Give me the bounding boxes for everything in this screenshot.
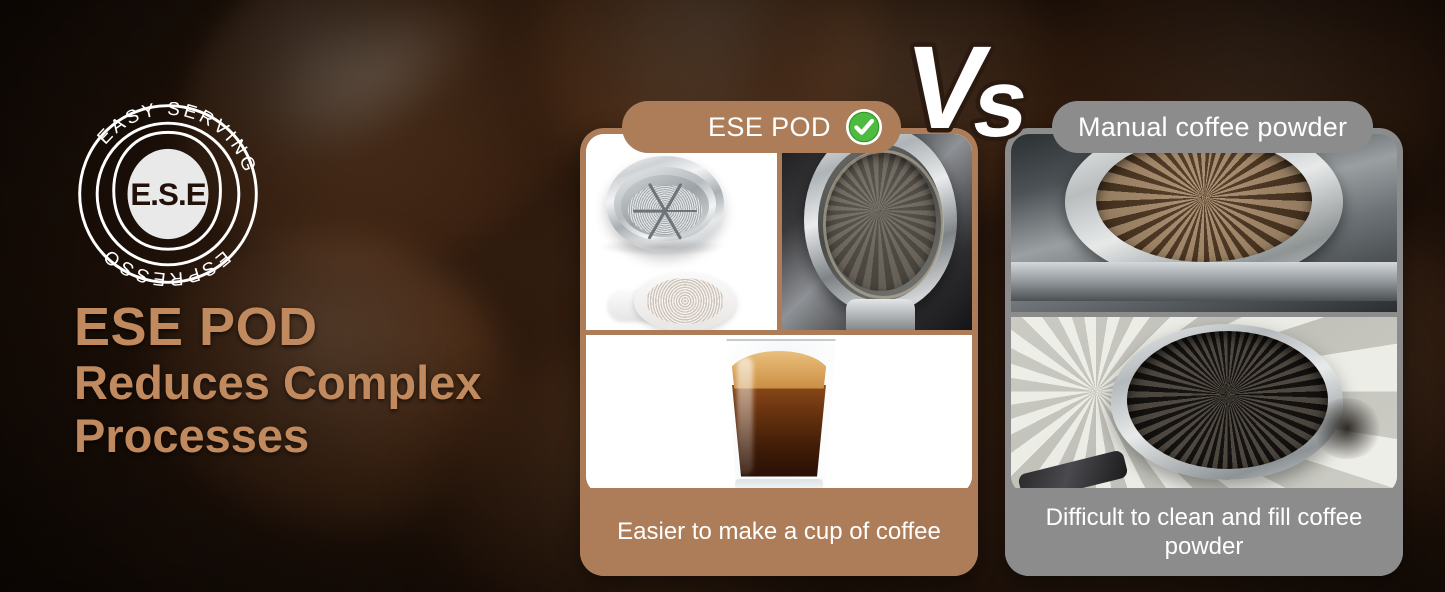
photo-espresso-glass-with-crema xyxy=(586,335,972,494)
comparison-section: Easier to make a cup of coffee xyxy=(0,0,1445,592)
manual-photo-frame xyxy=(1011,134,1397,494)
basket-star-vent-icon xyxy=(628,185,701,235)
photo-portafilter-with-pod-puck xyxy=(782,134,973,330)
ese-pod-caption: Easier to make a cup of coffee xyxy=(580,488,978,576)
ese-pod-label-text: ESE POD xyxy=(708,112,831,143)
ese-pod-photo-frame xyxy=(586,134,972,494)
espresso-glass-graphic xyxy=(713,335,845,494)
photo-basket-full-of-grounds xyxy=(1011,317,1397,494)
ese-pod-card: Easier to make a cup of coffee xyxy=(580,128,978,576)
manual-powder-card: Difficult to clean and fill coffee powde… xyxy=(1005,128,1403,576)
paper-pod-graphic xyxy=(608,270,738,330)
ese-pod-label-pill: ESE POD xyxy=(622,101,901,153)
manual-powder-label-text: Manual coffee powder xyxy=(1078,112,1347,143)
manual-powder-caption: Difficult to clean and fill coffee powde… xyxy=(1005,488,1403,576)
ese-pod-photo-row xyxy=(586,134,972,335)
promo-banner: E.S.E EASY SERVING ESPRESSO ESE POD Redu… xyxy=(0,0,1445,592)
photo-dirty-group-head xyxy=(1011,134,1397,317)
manual-powder-label-pill: Manual coffee powder xyxy=(1052,101,1373,153)
photo-ese-pod-holder-and-paper-pod xyxy=(586,134,782,330)
green-check-icon xyxy=(845,108,883,146)
